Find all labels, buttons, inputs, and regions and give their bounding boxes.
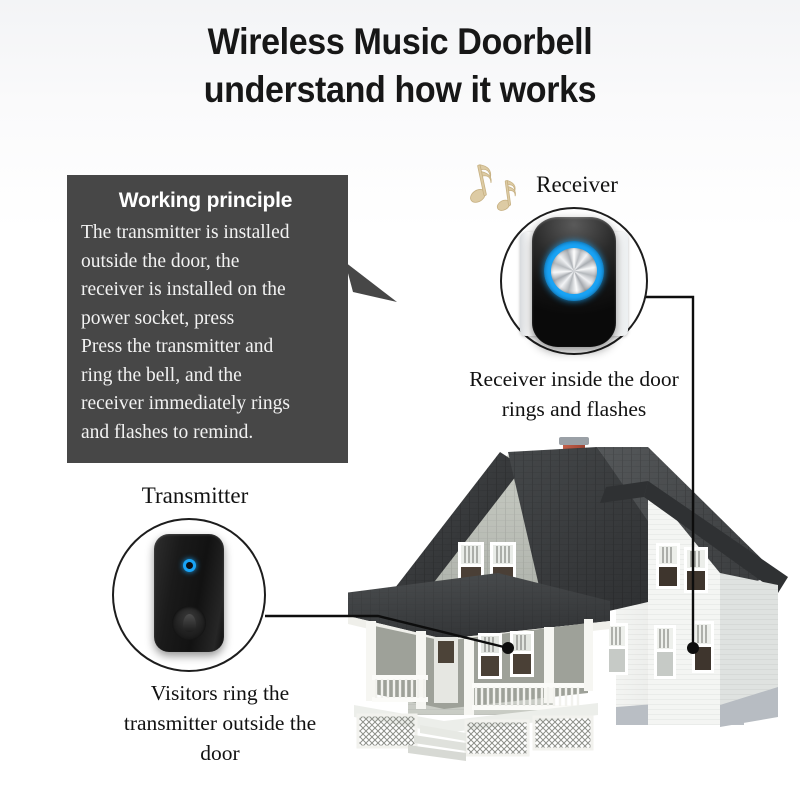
callout-body-line: outside the door, the xyxy=(81,248,338,277)
porch-column xyxy=(366,621,376,701)
porch-column xyxy=(584,619,593,691)
infographic-canvas: Wireless Music Doorbell understand how i… xyxy=(0,0,800,800)
callout-body-line: The transmitter is installed xyxy=(81,219,338,248)
lattice-skirt xyxy=(358,715,416,747)
callout-tail xyxy=(345,262,397,306)
receiver-button-knob[interactable] xyxy=(551,248,597,294)
receiver-body xyxy=(532,217,616,347)
transmitter-caption-line: Visitors ring the xyxy=(95,678,345,708)
receiver-button-ring[interactable] xyxy=(544,241,604,301)
transmitter-bell-button[interactable] xyxy=(172,606,206,640)
page-title: Wireless Music Doorbell understand how i… xyxy=(32,18,768,114)
window-lower-right-a xyxy=(606,623,628,675)
window-lower-right-c xyxy=(692,621,714,673)
window-lower-right-b xyxy=(654,625,676,679)
receiver-caption-line: rings and flashes xyxy=(443,394,705,424)
receiver-device xyxy=(512,214,636,350)
callout-body-line: power socket, press xyxy=(81,305,338,334)
house-illustration xyxy=(348,425,800,800)
callout-heading: Working principle xyxy=(81,187,338,215)
receiver-caption-line: Receiver inside the door xyxy=(443,364,705,394)
porch-window-a xyxy=(478,633,502,679)
window-right-gable-a xyxy=(656,543,680,589)
transmitter-body xyxy=(154,534,224,652)
callout-body: The transmitter is installed outside the… xyxy=(81,219,338,447)
transmitter-caption-line: transmitter outside the xyxy=(95,708,345,738)
transmitter-device xyxy=(154,534,226,654)
receiver-caption: Receiver inside the door rings and flash… xyxy=(443,364,705,424)
callout-body-line: receiver immediately rings xyxy=(81,390,338,419)
callout-body-line: Press the transmitter and xyxy=(81,333,338,362)
receiver-label: Receiver xyxy=(512,170,642,199)
transmitter-caption-line: door xyxy=(95,738,345,768)
window-right-gable-b xyxy=(684,547,708,593)
callout-body-line: receiver is installed on the xyxy=(81,276,338,305)
working-principle-callout: Working principle The transmitter is ins… xyxy=(67,175,348,463)
callout-body-line: ring the bell, and the xyxy=(81,362,338,391)
porch-column xyxy=(464,639,474,715)
porch-window-b xyxy=(510,631,534,677)
bell-button-icon xyxy=(183,614,196,632)
callout-body-line: and flashes to remind. xyxy=(81,419,338,448)
page-title-line-2: understand how it works xyxy=(32,66,768,114)
transmitter-label: Transmitter xyxy=(120,481,270,510)
lattice-skirt xyxy=(534,717,592,749)
transmitter-caption: Visitors ring the transmitter outside th… xyxy=(95,678,345,768)
page-title-line-1: Wireless Music Doorbell xyxy=(208,21,593,62)
transmitter-led-indicator xyxy=(183,559,196,572)
lattice-skirt xyxy=(466,721,528,755)
